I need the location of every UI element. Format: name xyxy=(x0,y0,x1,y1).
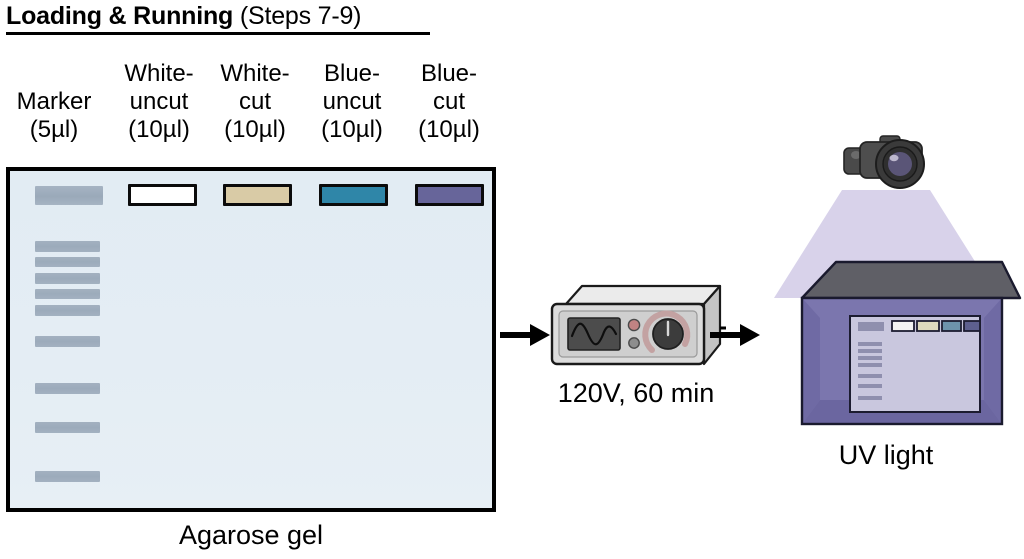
marker-band xyxy=(35,273,100,284)
lane-header-blue-uncut-line1: Blue- xyxy=(302,60,402,88)
lane-header-white-cut-line1: White- xyxy=(205,60,305,88)
marker-band xyxy=(35,289,100,299)
lane-header-marker-line2: Marker xyxy=(0,88,110,116)
lane-header-blue-cut-line3: (10µl) xyxy=(399,116,499,144)
power-supply-caption: 120V, 60 min xyxy=(520,376,752,410)
well-blue-uncut[interactable] xyxy=(319,184,388,206)
well-white-uncut[interactable] xyxy=(128,184,197,206)
well-white-cut[interactable] xyxy=(223,184,292,206)
marker-lane-well xyxy=(35,186,103,205)
lane-header-white-cut-line2: cut xyxy=(205,88,305,116)
page-title: Loading & Running (Steps 7-9) xyxy=(6,2,361,30)
marker-band xyxy=(35,383,100,394)
title-underline xyxy=(6,32,430,35)
title-bold-part: Loading & Running xyxy=(6,2,233,30)
marker-band xyxy=(35,305,100,316)
gel-caption: Agarose gel xyxy=(6,518,496,552)
uv-light-caption: UV light xyxy=(752,438,1020,472)
marker-band xyxy=(35,257,100,267)
lane-header-blue-cut-line1: Blue- xyxy=(399,60,499,88)
lane-header-white-uncut: White- uncut (10µl) xyxy=(106,60,212,144)
well-blue-cut[interactable] xyxy=(415,184,484,206)
lane-header-blue-uncut: Blue- uncut (10µl) xyxy=(302,60,402,144)
title-regular-part: (Steps 7-9) xyxy=(233,2,361,30)
agarose-gel xyxy=(6,167,496,512)
marker-band xyxy=(35,336,100,347)
lane-header-marker-line3: (5µl) xyxy=(0,116,110,144)
marker-band xyxy=(35,241,100,252)
lane-header-white-uncut-line3: (10µl) xyxy=(106,116,212,144)
diagram-canvas: Loading & Running (Steps 7-9) Marker (5µ… xyxy=(0,0,1024,559)
lane-header-blue-uncut-line2: uncut xyxy=(302,88,402,116)
lane-header-white-uncut-line1: White- xyxy=(106,60,212,88)
marker-band xyxy=(35,422,100,433)
lane-header-white-uncut-line2: uncut xyxy=(106,88,212,116)
title-text: Loading & Running (Steps 7-9) xyxy=(6,2,361,30)
uv-transilluminator xyxy=(752,128,1020,448)
lane-header-blue-cut-line2: cut xyxy=(399,88,499,116)
uv-mini-gel xyxy=(850,316,980,412)
lane-header-marker: Marker (5µl) xyxy=(0,88,110,144)
lane-header-white-cut: White- cut (10µl) xyxy=(205,60,305,144)
lane-header-white-cut-line3: (10µl) xyxy=(205,116,305,144)
lane-header-blue-uncut-line3: (10µl) xyxy=(302,116,402,144)
marker-band xyxy=(35,471,100,482)
lane-header-blue-cut: Blue- cut (10µl) xyxy=(399,60,499,144)
camera-icon xyxy=(844,136,924,188)
gel-to-power-supply-arrow xyxy=(500,322,552,348)
power-supply xyxy=(548,282,726,378)
